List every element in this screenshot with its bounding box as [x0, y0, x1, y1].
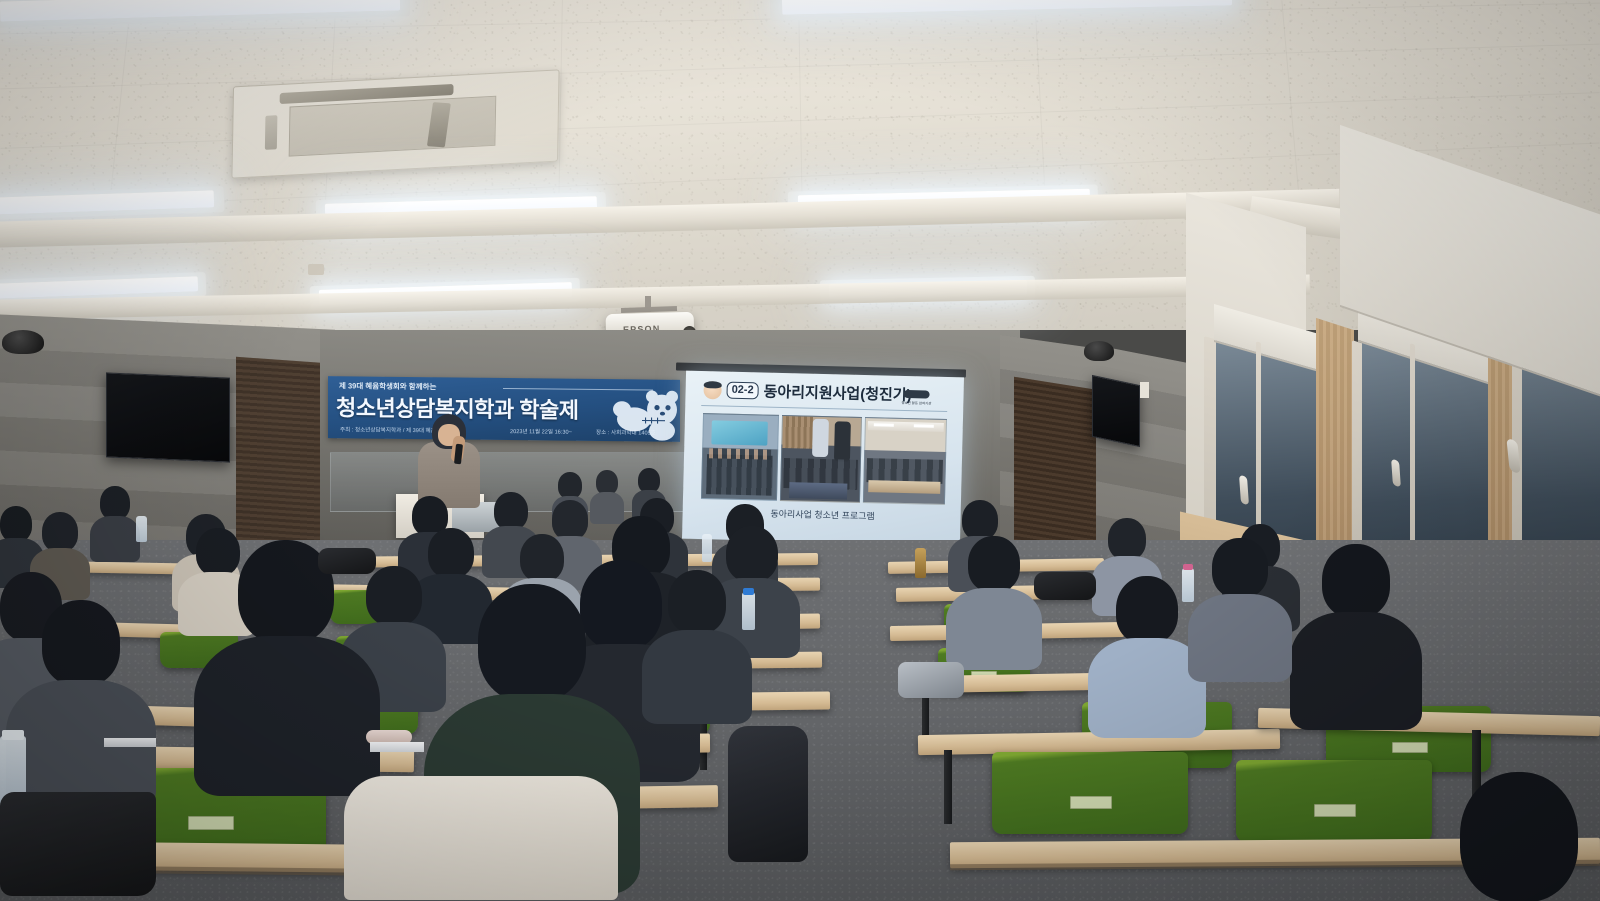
bag — [0, 792, 156, 896]
bag — [1034, 572, 1096, 600]
slide-photo-1 — [701, 413, 779, 501]
wall-display-left — [106, 372, 230, 462]
water-bottle — [136, 516, 147, 542]
bottle-cap — [743, 588, 754, 595]
desk-leg — [944, 750, 952, 824]
ceiling-speaker-right — [1084, 341, 1114, 361]
water-bottle — [702, 534, 712, 562]
ceiling-speaker-left — [2, 330, 44, 354]
slide-section-number: 02-2 — [726, 382, 758, 400]
notebook — [104, 738, 156, 747]
bag — [318, 548, 376, 574]
lecture-hall-photo: EPSON 제 39대 혜윰학생회와 함께하는 청소년상담복지학과 학술제 주최… — [0, 0, 1600, 901]
bottle-cap — [1183, 564, 1193, 570]
smoke-detector — [308, 264, 324, 275]
wood-slat-wall-left — [236, 357, 328, 563]
chair[interactable] — [1236, 760, 1432, 842]
chair[interactable] — [992, 752, 1188, 834]
tv-bracket-right — [1092, 375, 1140, 447]
water-bottle — [742, 592, 755, 630]
slide-photo-3 — [863, 417, 947, 505]
slide-corner-badge-label: 청소년 활동 참여기관 — [899, 400, 933, 406]
banner-datetime: 2023년 11월 22일 16:30~ — [510, 427, 572, 436]
sheepskin-chair-cover — [344, 776, 618, 900]
water-bottle — [1182, 568, 1194, 602]
bottle-cap — [2, 730, 24, 740]
slide-corner-badge — [903, 390, 929, 399]
projection-screen: 02-2 동아리지원사업(청진기) 청소년 활동 참여기관 동아리사 — [682, 371, 964, 546]
tiger-mascot-icon — [612, 385, 680, 442]
backpack — [728, 726, 808, 862]
beverage-bottle — [915, 548, 926, 578]
event-banner: 제 39대 혜윰학생회와 함께하는 청소년상담복지학과 학술제 주최 : 청소년… — [328, 376, 680, 442]
jacket-on-chair — [898, 662, 964, 698]
slide-title: 동아리지원사업(청진기) — [763, 381, 911, 406]
notebook — [370, 742, 424, 752]
slide-character-icon — [703, 381, 721, 399]
air-conditioner-unit — [231, 69, 559, 178]
wall-switch — [1140, 382, 1149, 398]
slide-photo-2 — [780, 415, 862, 503]
